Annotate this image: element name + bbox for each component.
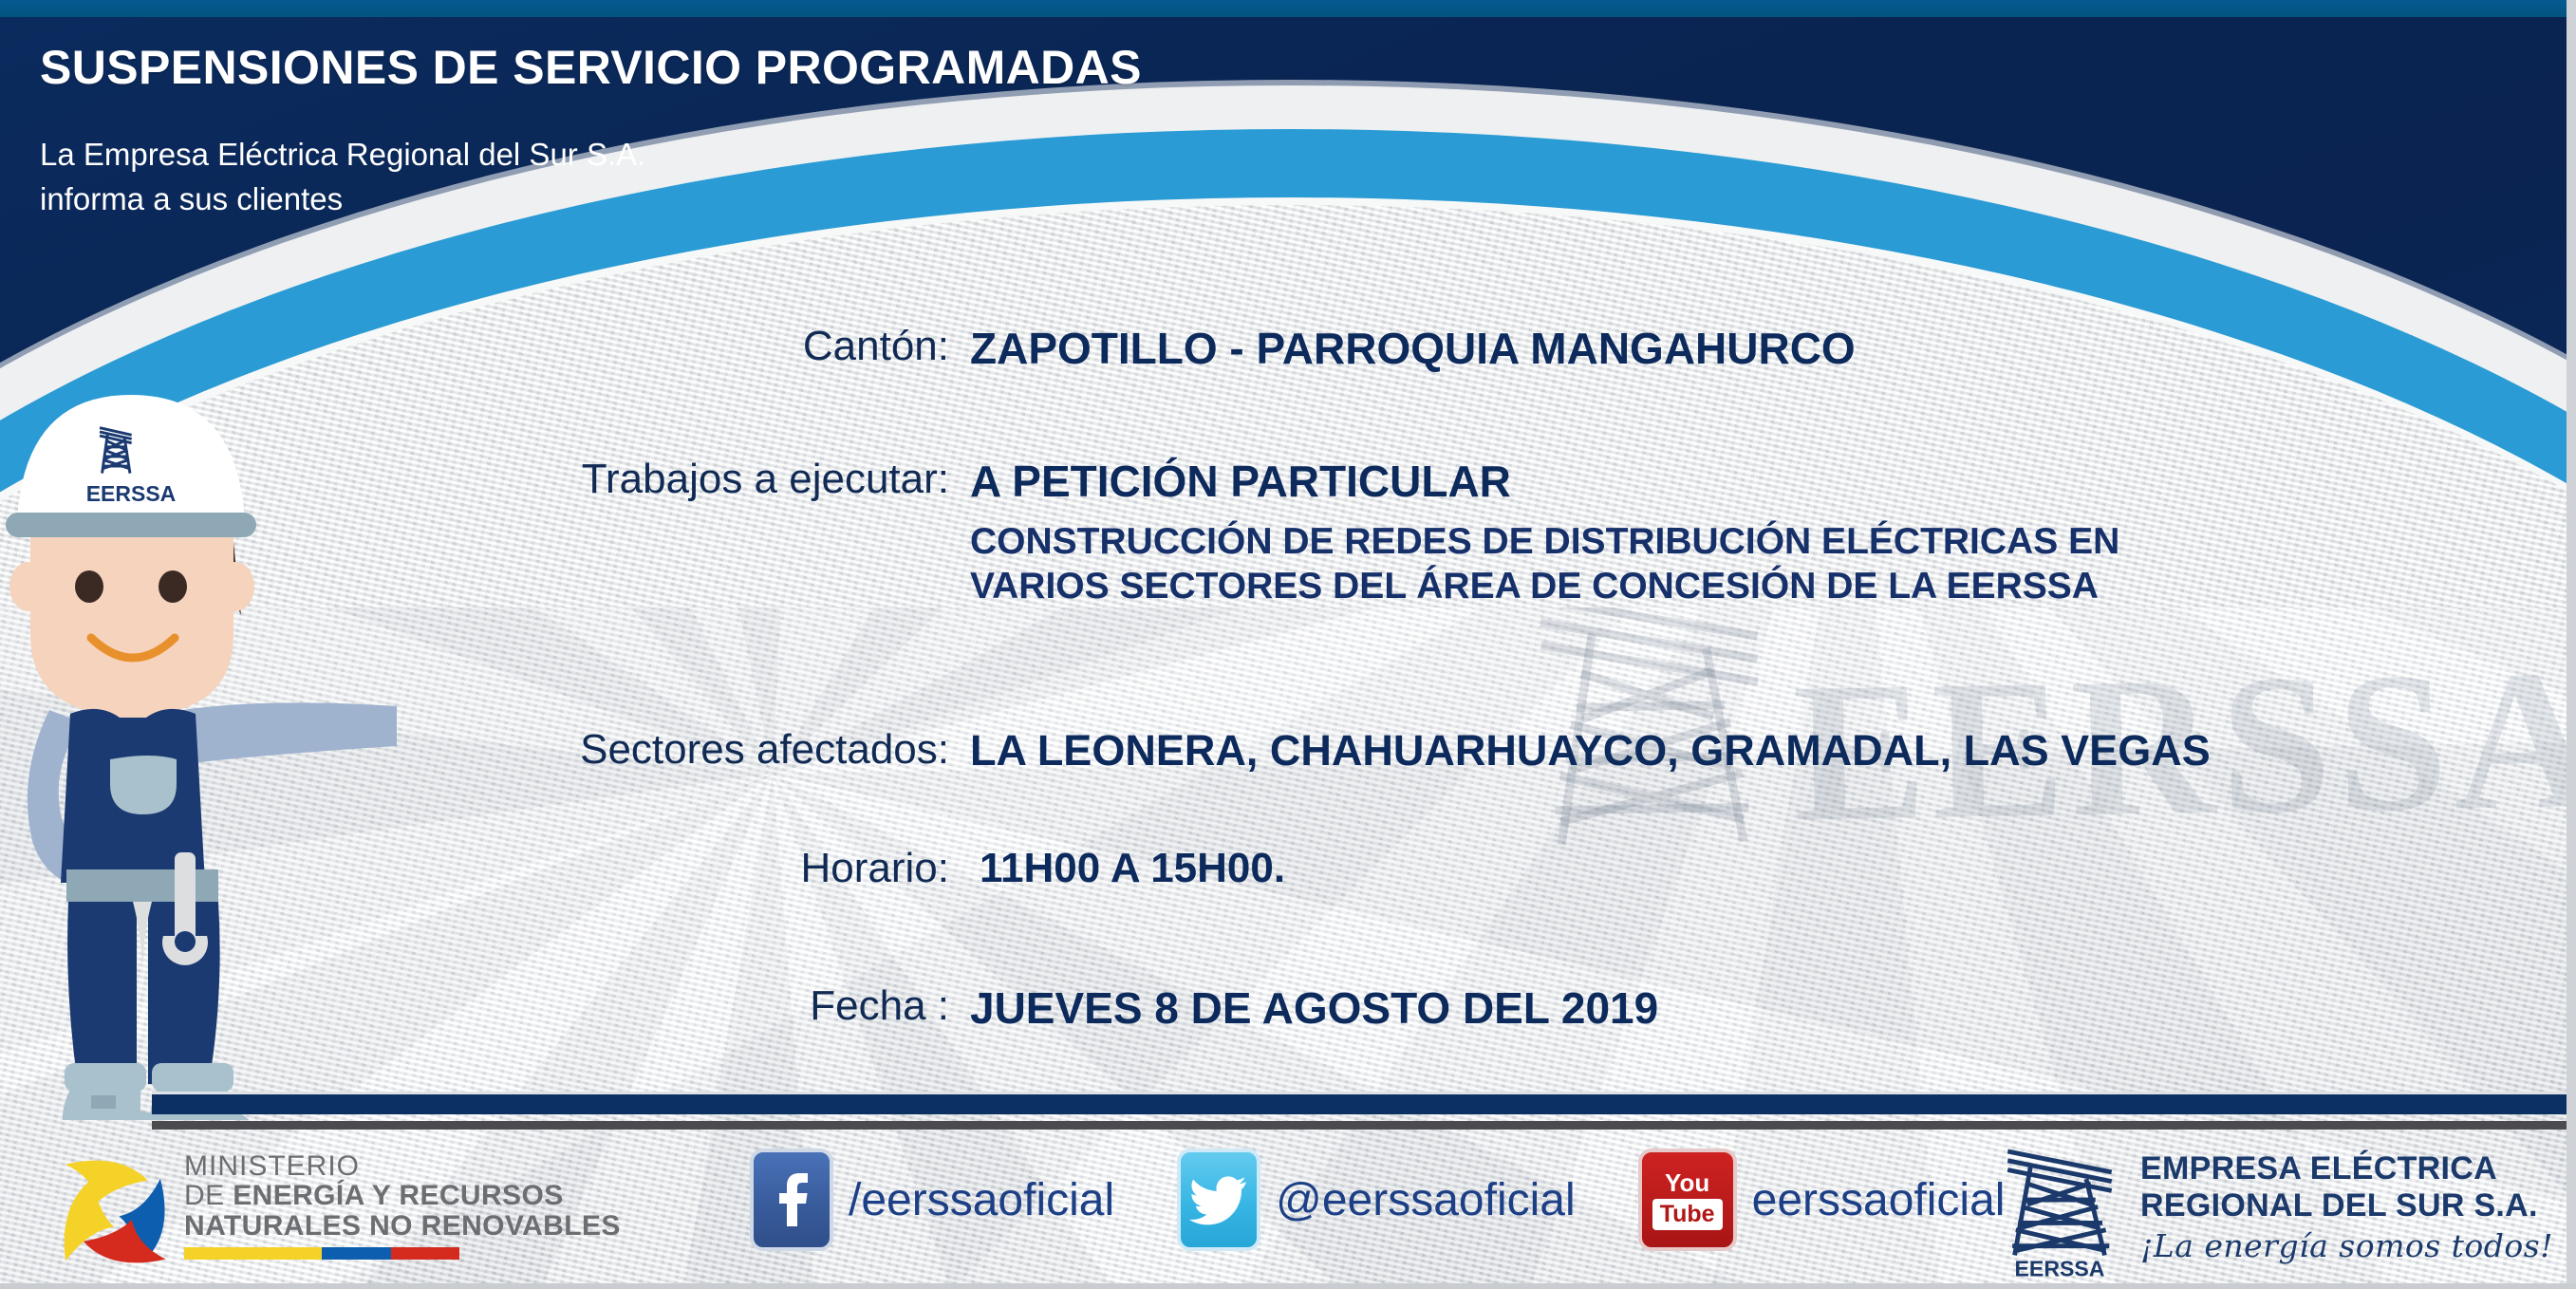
trabajos-detail-line-2: VARIOS SECTORES DEL ÁREA DE CONCESIÓN DE… — [970, 565, 2119, 609]
trabajos-detail: CONSTRUCCIÓN DE REDES DE DISTRIBUCIÓN EL… — [970, 520, 2119, 609]
twitter-bird-glyph — [1189, 1174, 1248, 1225]
eerssa-logo-text: EMPRESA ELÉCTRICA REGIONAL DEL SUR S.A. … — [2140, 1150, 2553, 1263]
canton-value: ZAPOTILLO - PARROQUIA MANGAHURCO — [949, 323, 1856, 374]
horario-label: Horario: — [0, 845, 949, 892]
social-facebook[interactable]: /eerssaoficial — [750, 1149, 1114, 1251]
poster-footer: MINISTERIO DE ENERGÍA Y RECURSOS NATURAL… — [0, 1135, 2576, 1289]
youtube-handle[interactable]: eerssaoficial — [1752, 1174, 2006, 1226]
flag-stripe-blue — [322, 1247, 391, 1260]
fecha-value: JUEVES 8 DE AGOSTO DEL 2019 — [949, 982, 1658, 1034]
field-row-horario: Horario: 11H00 A 15H00. — [0, 845, 2576, 892]
facebook-icon[interactable] — [750, 1149, 833, 1251]
ministerio-line-1: MINISTERIO — [184, 1151, 621, 1181]
social-youtube[interactable]: You Tube eerssaoficial — [1638, 1149, 2006, 1251]
trabajos-detail-line-1: CONSTRUCCIÓN DE REDES DE DISTRIBUCIÓN EL… — [970, 520, 2119, 565]
poster-canvas: EERSSA SUSPENSIONES DE SERVICIO PROGRAMA… — [0, 0, 2576, 1289]
ministerio-line-2-prefix: DE — [184, 1180, 233, 1211]
header-subtitle: La Empresa Eléctrica Regional del Sur S.… — [40, 133, 645, 222]
footer-divider-grey — [152, 1121, 2576, 1130]
field-row-sectores: Sectores afectados: LA LEONERA, CHAHUARH… — [0, 726, 2576, 775]
bottom-edge-trim — [0, 1283, 2576, 1289]
ministerio-line-2-bold: ENERGÍA Y RECURSOS — [233, 1180, 563, 1211]
trabajos-label: Trabajos a ejecutar: — [0, 456, 949, 507]
field-row-canton: Cantón: ZAPOTILLO - PARROQUIA MANGAHURCO — [0, 323, 2576, 374]
page-title: SUSPENSIONES DE SERVICIO PROGRAMADAS — [40, 40, 1142, 95]
right-edge-trim — [2567, 0, 2576, 1289]
social-links: /eerssaoficial @eerssaoficial You Tube e… — [750, 1149, 2005, 1251]
flag-stripe-yellow — [184, 1247, 322, 1260]
twitter-icon[interactable] — [1177, 1149, 1260, 1251]
social-twitter[interactable]: @eerssaoficial — [1177, 1149, 1576, 1251]
ministerio-logo-block: MINISTERIO DE ENERGÍA Y RECURSOS NATURAL… — [49, 1143, 621, 1268]
twitter-handle[interactable]: @eerssaoficial — [1276, 1174, 1576, 1226]
ministerio-text: MINISTERIO DE ENERGÍA Y RECURSOS NATURAL… — [184, 1151, 621, 1260]
fecha-label: Fecha : — [0, 982, 949, 1034]
flag-stripe-red — [391, 1247, 460, 1260]
facebook-f-glyph — [773, 1173, 811, 1226]
header-subtitle-line-1: La Empresa Eléctrica Regional del Sur S.… — [40, 133, 645, 177]
sectores-value: LA LEONERA, CHAHUARHUAYCO, GRAMADAL, LAS… — [949, 726, 2211, 775]
facebook-handle[interactable]: /eerssaoficial — [849, 1174, 1114, 1226]
eerssa-name-line-2: REGIONAL DEL SUR S.A. — [2140, 1187, 2553, 1224]
youtube-badge-bottom: Tube — [1652, 1199, 1723, 1230]
ministerio-pinwheel-icon — [49, 1143, 175, 1268]
eerssa-slogan: ¡La energía somos todos! — [2140, 1227, 2553, 1264]
eerssa-logo-block: EERSSA EMPRESA ELÉCTRICA REGIONAL DEL SU… — [1994, 1135, 2553, 1280]
eerssa-name-line-1: EMPRESA ELÉCTRICA — [2140, 1150, 2553, 1186]
top-accent-strip — [0, 0, 2576, 17]
sectores-label: Sectores afectados: — [0, 726, 949, 775]
field-row-fecha: Fecha : JUEVES 8 DE AGOSTO DEL 2019 — [0, 982, 2576, 1034]
eerssa-tower-icon: EERSSA — [1994, 1135, 2125, 1280]
header-subtitle-line-2: informa a sus clientes — [40, 177, 645, 222]
ecuador-flag-bar — [184, 1247, 459, 1260]
horario-value: 11H00 A 15H00. — [949, 845, 1285, 892]
youtube-icon[interactable]: You Tube — [1638, 1149, 1737, 1251]
field-row-trabajos: Trabajos a ejecutar: A PETICIÓN PARTICUL… — [0, 456, 2576, 507]
canton-label: Cantón: — [0, 323, 949, 374]
ministerio-line-2: DE ENERGÍA Y RECURSOS — [184, 1181, 621, 1210]
youtube-badge-top: You — [1665, 1170, 1709, 1195]
ministerio-line-3: NATURALES NO RENOVABLES — [184, 1211, 621, 1241]
trabajos-value: A PETICIÓN PARTICULAR — [949, 456, 1511, 507]
eerssa-tower-label: EERSSA — [2015, 1256, 2105, 1280]
footer-divider-navy — [152, 1092, 2576, 1114]
